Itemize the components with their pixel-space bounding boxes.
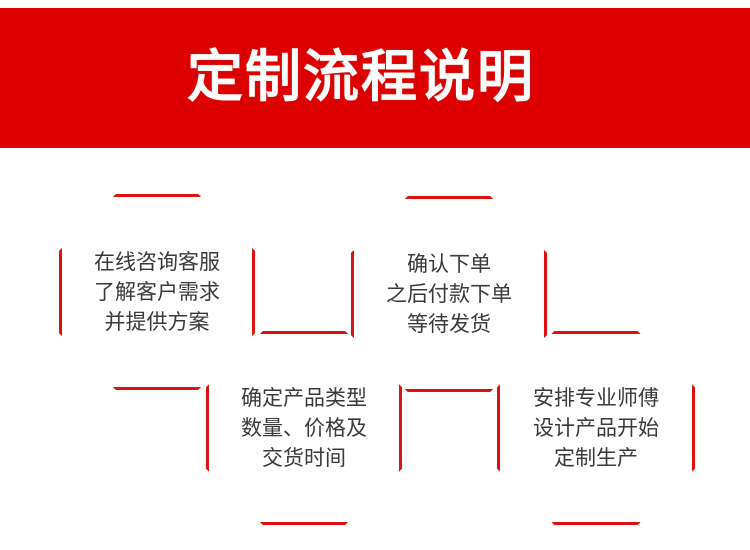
process-flow-diagram: 在线咨询客服 了解客户需求 并提供方案 确认下单 之后付款下单 等待发货 确定产… [0,148,750,550]
header-banner: 定制流程说明 [0,8,750,148]
page-title: 定制流程说明 [0,8,750,148]
flow-step-3-text: 确定产品类型 数量、价格及 交货时间 [241,383,367,473]
flow-step-1-line-3: 并提供方案 [94,307,220,337]
flow-step-2-line-3: 等待发货 [386,309,512,339]
flow-step-2-line-2: 之后付款下单 [386,279,512,309]
flow-step-4-line-2: 设计产品开始 [533,413,659,443]
flow-step-1: 在线咨询客服 了解客户需求 并提供方案 [59,194,255,390]
flow-step-4: 安排专业师傅 设计产品开始 定制生产 [497,331,695,525]
flow-step-3-line-2: 数量、价格及 [241,413,367,443]
page-root: 定制流程说明 在线咨询客服 了解客户需求 并提供方案 确认下单 之后付款下单 等… [0,0,750,550]
flow-step-3-line-3: 交货时间 [241,443,367,473]
flow-step-4-line-1: 安排专业师傅 [533,383,659,413]
flow-step-2-text: 确认下单 之后付款下单 等待发货 [386,249,512,339]
flow-step-1-text: 在线咨询客服 了解客户需求 并提供方案 [94,247,220,337]
flow-step-1-line-1: 在线咨询客服 [94,247,220,277]
flow-step-1-line-2: 了解客户需求 [94,277,220,307]
flow-step-4-line-3: 定制生产 [533,443,659,473]
flow-step-3: 确定产品类型 数量、价格及 交货时间 [206,331,402,525]
flow-step-2-line-1: 确认下单 [386,249,512,279]
flow-step-2: 确认下单 之后付款下单 等待发货 [351,196,547,392]
flow-step-4-text: 安排专业师傅 设计产品开始 定制生产 [533,383,659,473]
flow-step-3-line-1: 确定产品类型 [241,383,367,413]
